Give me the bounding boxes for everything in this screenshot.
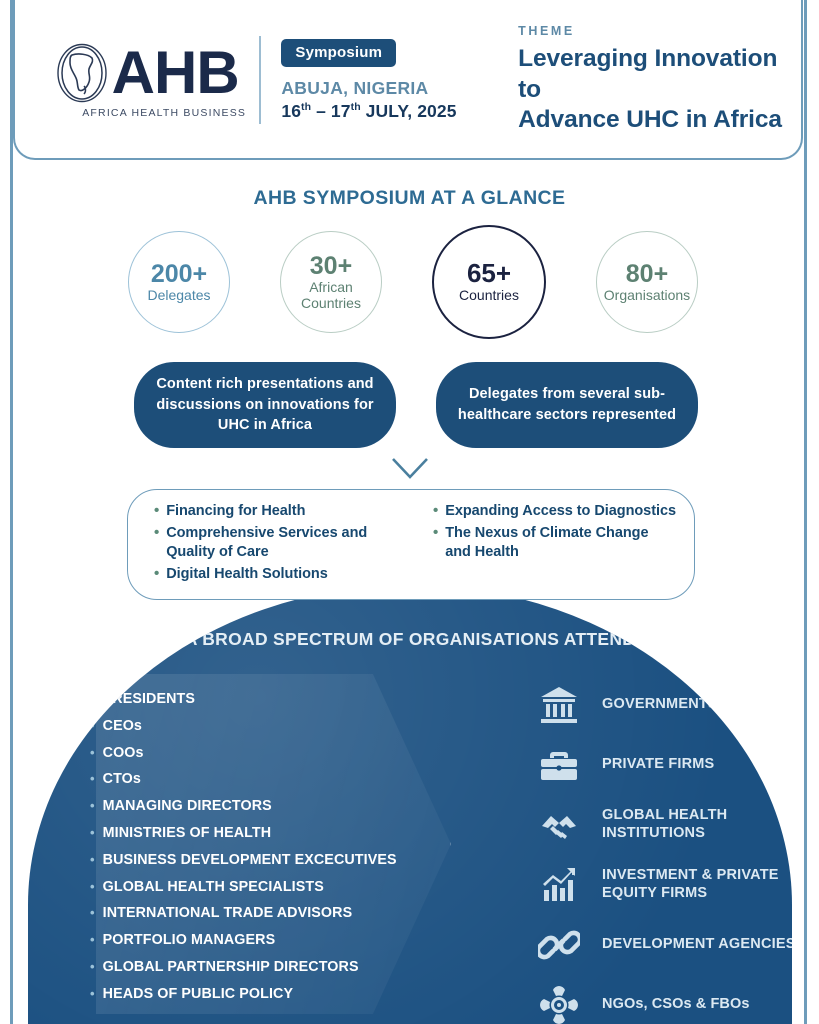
bullet-icon: • <box>90 853 95 866</box>
page-right-rule <box>804 0 807 1024</box>
stat-circle: 30+AfricanCountries <box>280 231 382 333</box>
topic-item: •Digital Health Solutions <box>154 565 415 583</box>
briefcase-icon <box>538 744 580 786</box>
glance-section-title: AHB SYMPOSIUM AT A GLANCE <box>0 187 819 210</box>
stat-label: AfricanCountries <box>301 280 361 311</box>
logo-wordmark: AHB <box>112 46 239 100</box>
date-separator: – 17 <box>311 101 350 121</box>
organisation-types-list: GOVERNMENTSPRIVATE FIRMSGLOBAL HEALTH IN… <box>538 683 792 1024</box>
organisation-label: INVESTMENT & PRIVATE EQUITY FIRMS <box>602 867 792 902</box>
topic-label: The Nexus of Climate Change and Health <box>445 524 676 561</box>
symposium-chip: Symposium <box>281 39 396 67</box>
organisation-label: GLOBAL HEALTH INSTITUTIONS <box>602 807 792 842</box>
organisation-label: DEVELOPMENT AGENCIES <box>602 936 792 954</box>
role-label: PORTFOLIO MANAGERS <box>103 933 276 947</box>
role-label: GLOBAL PARTNERSHIP DIRECTORS <box>103 960 359 974</box>
bullet-icon: • <box>154 565 159 583</box>
date-month-year: JULY, 2025 <box>361 101 457 121</box>
chain-link-icon <box>538 924 580 966</box>
infographic-page: AHB AFRICA HEALTH BUSINESS Symposium ABU… <box>0 0 819 1024</box>
bullet-icon: • <box>90 960 95 973</box>
community-circle-icon <box>538 984 580 1024</box>
role-item: •GLOBAL HEALTH SPECIALISTS <box>90 880 470 894</box>
topic-label: Expanding Access to Diagnostics <box>445 502 676 520</box>
role-label: COOs <box>103 746 144 760</box>
roles-list: •PRESIDENTS•CEOs•COOs•CTOs•MANAGING DIRE… <box>90 692 470 1014</box>
bullet-icon: • <box>90 799 95 812</box>
role-label: PRESIDENTS <box>103 692 195 706</box>
highlight-pill: Delegates from several sub-healthcare se… <box>436 362 698 448</box>
bullet-icon: • <box>90 880 95 893</box>
role-label: INTERNATIONAL TRADE ADVISORS <box>103 906 353 920</box>
bullet-icon: • <box>90 746 95 759</box>
topic-item: •The Nexus of Climate Change and Health <box>433 524 676 561</box>
topic-item: •Comprehensive Services and Quality of C… <box>154 524 415 561</box>
role-item: •CTOs <box>90 772 470 786</box>
organisation-label: GOVERNMENTS <box>602 696 718 714</box>
bullet-icon: • <box>154 524 159 542</box>
role-label: BUSINESS DEVELOPMENT EXCECUTIVES <box>103 853 397 867</box>
bullet-icon: • <box>90 772 95 785</box>
role-item: •COOs <box>90 746 470 760</box>
role-item: •BUSINESS DEVELOPMENT EXCECUTIVES <box>90 853 470 867</box>
organisations-dome: A BROAD SPECTRUM OF ORGANISATIONS ATTEND… <box>28 585 792 1024</box>
africa-globe-icon <box>54 42 110 104</box>
header-card: AHB AFRICA HEALTH BUSINESS Symposium ABU… <box>13 0 803 160</box>
symposium-info: Symposium ABUJA, NIGERIA 16th – 17th JUL… <box>281 39 482 122</box>
stat-circle: 80+Organisations <box>596 231 698 333</box>
role-item: •HEADS OF PUBLIC POLICY <box>90 987 470 1001</box>
stat-label: Organisations <box>604 288 690 304</box>
topic-label: Comprehensive Services and Quality of Ca… <box>166 524 415 561</box>
stat-label: Delegates <box>147 288 210 304</box>
stat-number: 30+ <box>310 253 352 279</box>
bank-building-icon <box>538 684 580 726</box>
theme-title: Leveraging Innovation to Advance UHC in … <box>518 44 801 135</box>
highlight-pills-row: Content rich presentations and discussio… <box>134 362 698 448</box>
role-item: •CEOs <box>90 719 470 733</box>
role-item: •MINISTRIES OF HEALTH <box>90 826 470 840</box>
bullet-icon: • <box>90 826 95 839</box>
bullet-icon: • <box>90 906 95 919</box>
date-end-ordinal: th <box>351 101 361 113</box>
role-label: MINISTRIES OF HEALTH <box>103 826 272 840</box>
organisation-item: NGOs, CSOs & FBOs <box>538 983 792 1024</box>
role-item: •PORTFOLIO MANAGERS <box>90 933 470 947</box>
date-start: 16 <box>281 101 301 121</box>
theme-kicker: THEME <box>518 24 801 38</box>
role-label: MANAGING DIRECTORS <box>103 799 272 813</box>
growth-chart-icon <box>538 864 580 906</box>
organisation-label: PRIVATE FIRMS <box>602 756 714 774</box>
topics-card: •Financing for Health•Comprehensive Serv… <box>127 489 695 600</box>
page-left-rule <box>10 0 13 1024</box>
stat-circle: 65+Countries <box>432 225 546 339</box>
topic-label: Digital Health Solutions <box>166 565 328 583</box>
bullet-icon: • <box>90 692 95 705</box>
spectrum-heading: A BROAD SPECTRUM OF ORGANISATIONS ATTEND <box>28 629 792 650</box>
symposium-city: ABUJA, NIGERIA <box>281 78 482 99</box>
topic-item: •Expanding Access to Diagnostics <box>433 502 676 520</box>
bullet-icon: • <box>154 502 159 520</box>
topics-column-right: •Expanding Access to Diagnostics•The Nex… <box>415 502 676 589</box>
organisation-label: NGOs, CSOs & FBOs <box>602 996 750 1014</box>
organisation-item: GOVERNMENTS <box>538 683 792 727</box>
organisation-item: DEVELOPMENT AGENCIES <box>538 923 792 967</box>
stat-number: 65+ <box>467 260 511 287</box>
stat-label: Countries <box>459 288 519 304</box>
topic-label: Financing for Health <box>166 502 305 520</box>
stat-number: 80+ <box>626 261 668 287</box>
role-item: •PRESIDENTS <box>90 692 470 706</box>
role-label: HEADS OF PUBLIC POLICY <box>103 987 293 1001</box>
symposium-dates: 16th – 17th JULY, 2025 <box>281 101 482 122</box>
theme-info: THEME Leveraging Innovation to Advance U… <box>482 24 801 135</box>
bullet-icon: • <box>433 502 438 520</box>
role-label: GLOBAL HEALTH SPECIALISTS <box>103 880 324 894</box>
logo-tagline: AFRICA HEALTH BUSINESS <box>82 107 246 119</box>
bullet-icon: • <box>90 719 95 732</box>
theme-title-line-1: Leveraging Innovation to <box>518 44 801 105</box>
stat-number: 200+ <box>151 261 207 287</box>
organisation-item: GLOBAL HEALTH INSTITUTIONS <box>538 803 792 847</box>
role-item: •GLOBAL PARTNERSHIP DIRECTORS <box>90 960 470 974</box>
date-start-ordinal: th <box>301 101 311 113</box>
topics-column-left: •Financing for Health•Comprehensive Serv… <box>154 502 415 589</box>
highlight-pill: Content rich presentations and discussio… <box>134 362 396 448</box>
role-item: •INTERNATIONAL TRADE ADVISORS <box>90 906 470 920</box>
header-divider <box>259 36 261 124</box>
organisation-item: INVESTMENT & PRIVATE EQUITY FIRMS <box>538 863 792 907</box>
role-item: •MANAGING DIRECTORS <box>90 799 470 813</box>
topic-item: •Financing for Health <box>154 502 415 520</box>
organisation-item: PRIVATE FIRMS <box>538 743 792 787</box>
ahb-logo: AHB AFRICA HEALTH BUSINESS <box>15 42 255 119</box>
stat-circle: 200+Delegates <box>128 231 230 333</box>
role-label: CEOs <box>103 719 142 733</box>
theme-title-line-2: Advance UHC in Africa <box>518 105 801 135</box>
bullet-icon: • <box>90 933 95 946</box>
handshake-icon <box>538 804 580 846</box>
stat-circles-row: 200+Delegates30+AfricanCountries65+Count… <box>128 221 698 343</box>
chevron-down-icon <box>390 456 430 487</box>
bullet-icon: • <box>90 987 95 1000</box>
role-label: CTOs <box>103 772 141 786</box>
bullet-icon: • <box>433 524 438 542</box>
